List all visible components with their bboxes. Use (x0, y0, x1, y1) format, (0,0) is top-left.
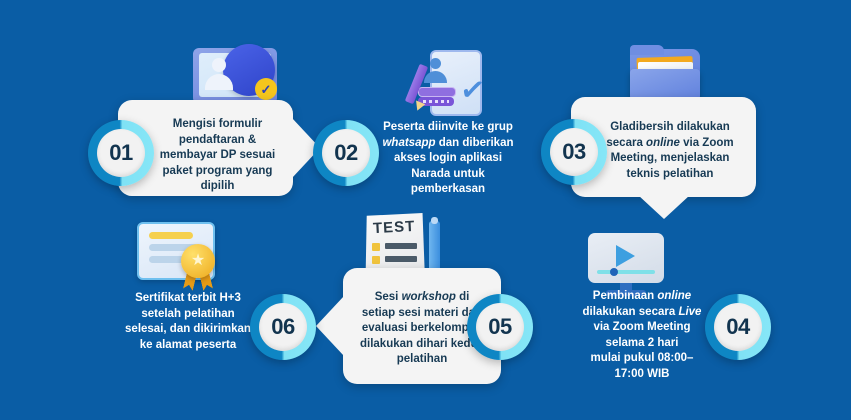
check-mark-icon: ✓ (458, 74, 487, 107)
step-04-badge[interactable]: 04 (705, 294, 771, 360)
step-06-number: 06 (271, 316, 294, 338)
step-03-badge[interactable]: 03 (541, 119, 607, 185)
step-04-text: Pembinaan onlinedilakukan secara Livevia… (571, 289, 713, 382)
infographic-canvas: ✓ Mengisi formulirpendaftaran &membayar … (0, 0, 851, 420)
step-01-number: 01 (109, 142, 132, 164)
step-02-text: Peserta diinvite ke grupwhatsapp dan dib… (368, 120, 528, 198)
step-01-badge[interactable]: 01 (88, 120, 154, 186)
certificate-award-icon: ★ (137, 218, 221, 290)
step-02-badge[interactable]: 02 (313, 120, 379, 186)
step-01-text: Mengisi formulirpendaftaran &membayar DP… (150, 117, 285, 195)
star-icon: ★ (191, 253, 205, 269)
verified-check-icon: ✓ (255, 78, 277, 100)
step-06-text: Sertifikat terbit H+3setelah pelatihanse… (112, 291, 264, 353)
step-05-number: 05 (488, 316, 511, 338)
registration-form-pencil-icon: ✓ (412, 50, 502, 122)
step-02-number: 02 (334, 142, 357, 164)
step-06-badge[interactable]: 06 (250, 294, 316, 360)
step-04-number: 04 (726, 316, 749, 338)
step-05-badge[interactable]: 05 (467, 294, 533, 360)
step-03-text: Gladibersih dilakukansecara online via Z… (600, 120, 740, 182)
step-03-number: 03 (562, 141, 585, 163)
